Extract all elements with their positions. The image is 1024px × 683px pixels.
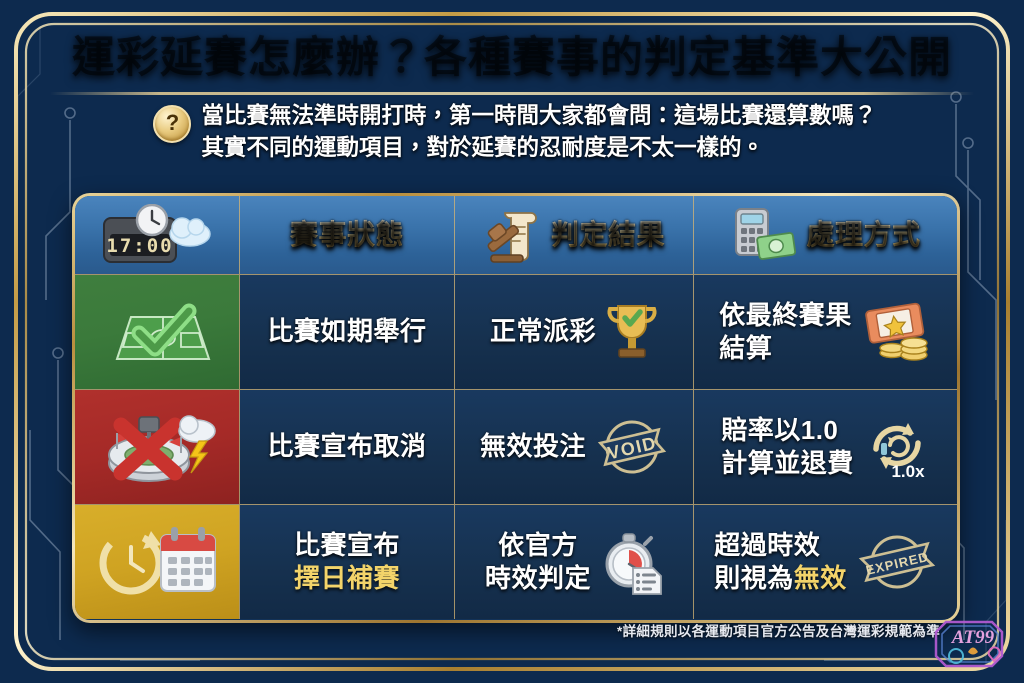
- at99-logo: AT99: [934, 612, 1012, 678]
- expired-stamp-icon: EXPIRED: [857, 531, 937, 593]
- row-2-result-cell: 無效投注 VOID: [454, 390, 693, 504]
- row-3-result-cell: 依官方 時效判定: [454, 505, 693, 619]
- header-cell-status-icon: 17:00: [75, 196, 239, 274]
- row-3-state-line-2: 擇日補賽: [294, 562, 400, 595]
- row-1-state-cell: 比賽如期舉行: [239, 275, 454, 389]
- table-row: 比賽宣布 擇日補賽 依官方 時效判定: [75, 504, 957, 619]
- row-2-action-line-2: 計算並退費: [721, 447, 854, 480]
- row-1-result-cell: 正常派彩: [454, 275, 693, 389]
- row-2-result-text: 無效投注: [480, 430, 586, 463]
- calculator-money-icon: [730, 205, 796, 265]
- trophy-check-icon: [606, 298, 658, 366]
- refund-loop-icon: 1.0x: [864, 413, 930, 481]
- row-2-action-cell: 賠率以1.0 計算並退費: [693, 390, 957, 504]
- void-stamp-icon: VOID: [596, 416, 668, 478]
- row-3-action-line-2-highlight: 無效: [794, 563, 847, 593]
- row-3-status-icon-cell: [75, 505, 239, 619]
- at99-logo-text: AT99: [951, 627, 995, 648]
- row-3-action-line-2: 則視為無效: [714, 562, 847, 595]
- rules-table: 17:00 賽事狀態: [72, 193, 960, 623]
- row-2-action-line-1: 賠率以1.0: [721, 414, 838, 447]
- gavel-scroll-icon: [483, 205, 541, 265]
- table-header-row: 17:00 賽事狀態: [75, 196, 957, 274]
- page-title: 運彩延賽怎麼辦？各種賽事的判定基準大公開: [50, 32, 974, 80]
- question-mark-icon: ?: [153, 105, 191, 143]
- intro-line-1: 當比賽無法準時開打時，第一時間大家都會問：這場比賽還算數嗎？: [201, 100, 876, 132]
- header-label-state: 賽事狀態: [290, 217, 404, 253]
- row-3-result-line-2: 時效判定: [485, 562, 591, 595]
- row-2-state-cell: 比賽宣布取消: [239, 390, 454, 504]
- row-1-result-text: 正常派彩: [490, 315, 596, 348]
- row-3-state-cell: 比賽宣布 擇日補賽: [239, 505, 454, 619]
- header-cell-result: 判定結果: [454, 196, 693, 274]
- row-1-state-text: 比賽如期舉行: [267, 315, 426, 348]
- table-row: 比賽宣布取消 無效投注 VOID: [75, 389, 957, 504]
- svg-text:17:00: 17:00: [106, 235, 173, 257]
- infographic-canvas: 運彩延賽怎麼辦？各種賽事的判定基準大公開 ? 當比賽無法準時開打時，第一時間大家…: [0, 0, 1024, 683]
- scoreboard-clock-icon: 17:00: [98, 204, 216, 266]
- row-3-state-line-1: 比賽宣布: [294, 529, 400, 562]
- row-3-action-line-2-prefix: 則視為: [714, 563, 794, 593]
- row-3-result-line-1: 依官方: [498, 529, 578, 562]
- intro-block: ? 當比賽無法準時開打時，第一時間大家都會問：這場比賽還算數嗎？ 其實不同的運動…: [70, 100, 960, 164]
- row-2-status-icon-cell: [75, 390, 239, 504]
- header-label-result: 判定結果: [551, 217, 665, 253]
- header-cell-action: 處理方式: [693, 196, 957, 274]
- header-label-action: 處理方式: [806, 217, 920, 253]
- refund-multiplier-label: 1.0x: [891, 462, 925, 481]
- header-cell-state: 賽事狀態: [239, 196, 454, 274]
- table-row: 比賽如期舉行 正常派彩: [75, 274, 957, 389]
- row-1-action-line-1: 依最終賽果: [719, 299, 852, 332]
- soccer-field-check-icon: [93, 289, 221, 375]
- row-3-action-line-1: 超過時效: [714, 529, 820, 562]
- title-divider: [50, 92, 974, 95]
- page-title-text: 運彩延賽怎麼辦？各種賽事的判定基準大公開: [50, 32, 974, 80]
- stadium-cancel-storm-icon: [93, 403, 221, 491]
- stopwatch-document-icon: [601, 528, 663, 596]
- intro-line-2: 其實不同的運動項目，對於延賽的忍耐度是不太一樣的。: [201, 132, 876, 164]
- row-1-action-cell: 依最終賽果 結算: [693, 275, 957, 389]
- row-2-state-text: 比賽宣布取消: [267, 430, 426, 463]
- row-3-action-cell: 超過時效 則視為無效 EXPIRED: [693, 505, 957, 619]
- footnote-text: *詳細規則以各運動項目官方公告及台灣運彩規範為準: [617, 620, 940, 640]
- row-1-action-line-2: 結算: [719, 332, 772, 365]
- ticket-coins-icon: [862, 299, 932, 365]
- row-1-status-icon-cell: [75, 275, 239, 389]
- clock-calendar-reschedule-icon: [91, 519, 223, 605]
